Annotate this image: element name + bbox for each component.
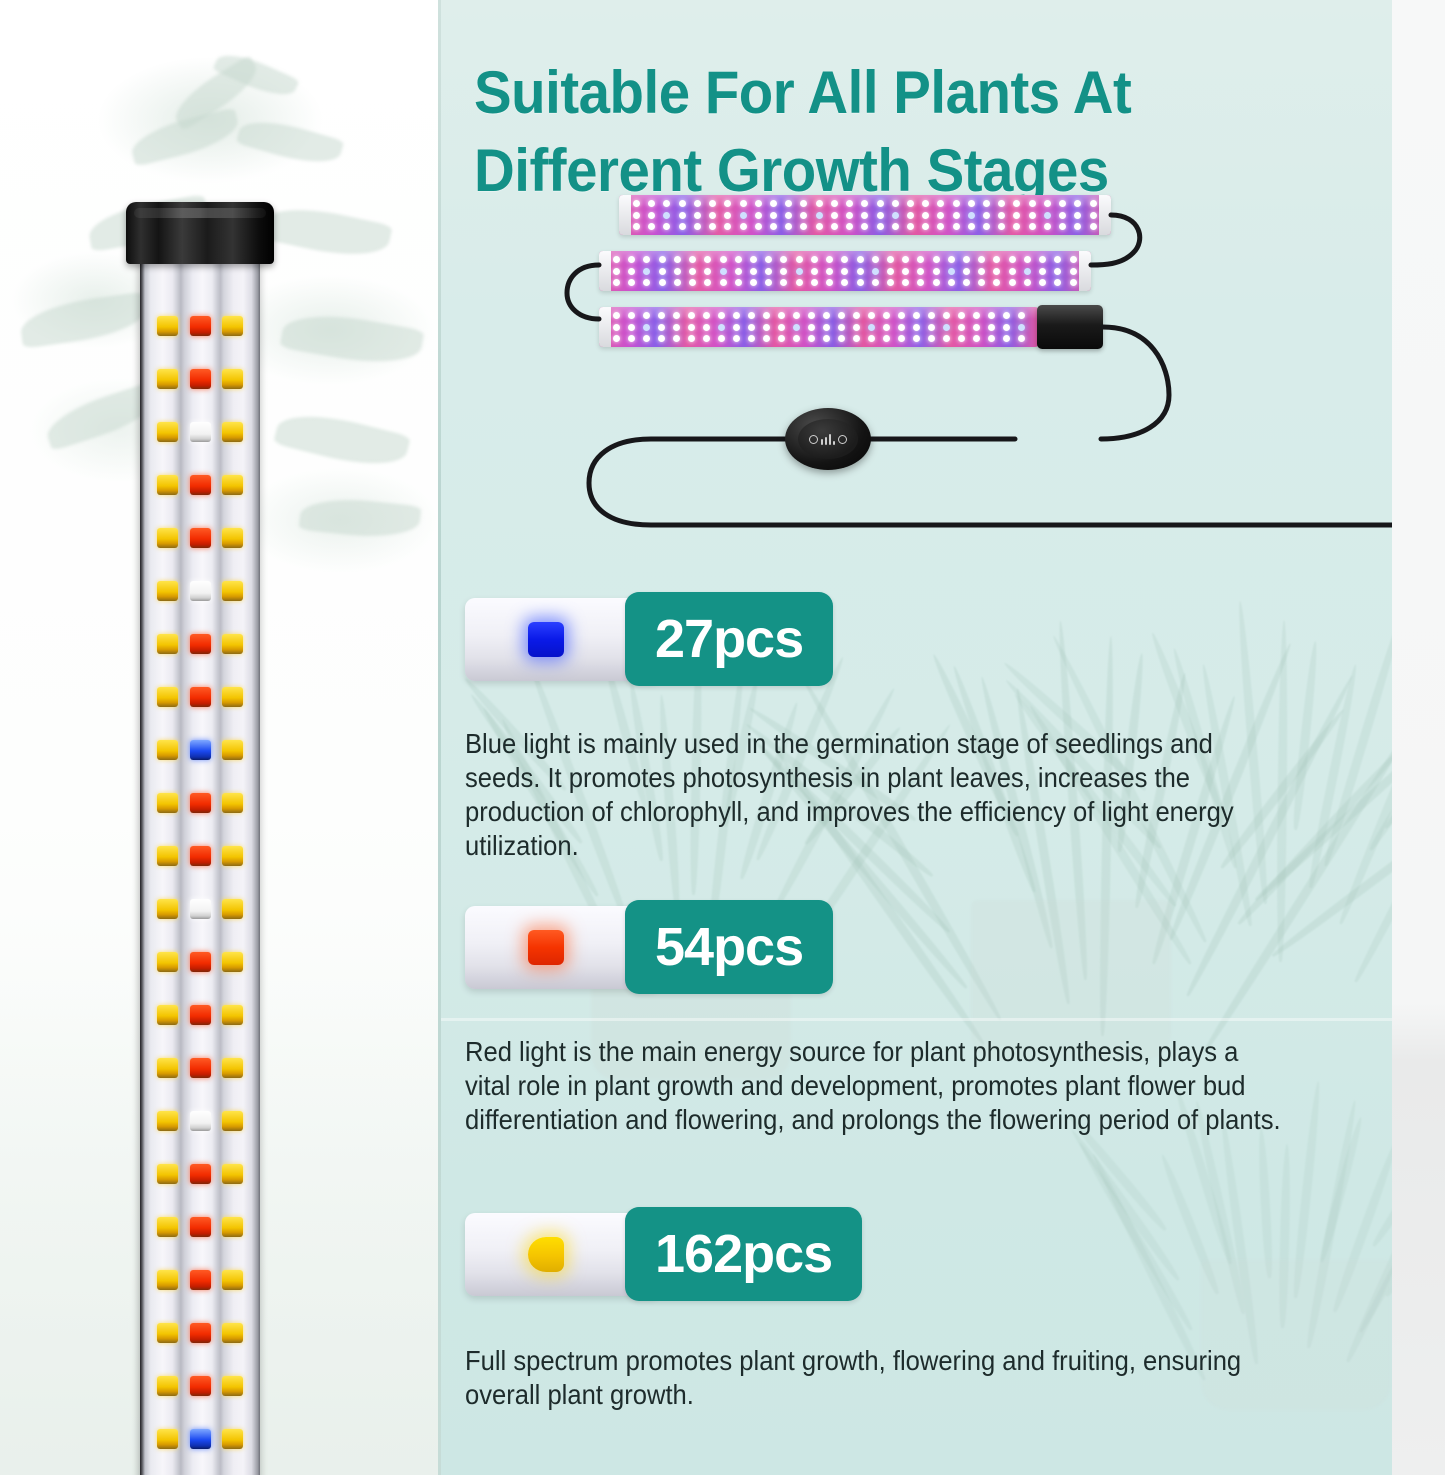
right-content-panel: Suitable For All Plants At Different Gro… xyxy=(441,0,1392,1475)
white-led-chip xyxy=(190,899,211,919)
red-led-chip xyxy=(190,1217,211,1237)
yellow-led-chip xyxy=(222,1164,243,1184)
timer-icon xyxy=(809,435,818,444)
yellow-led-chip xyxy=(222,1111,243,1131)
white-led-chip xyxy=(190,422,211,442)
red-led-chip xyxy=(190,369,211,389)
yellow-led-chip xyxy=(157,1270,178,1290)
led-row xyxy=(140,899,260,921)
title-line-1: Suitable For All Plants At xyxy=(474,54,1301,132)
red-description: Red light is the main energy source for … xyxy=(465,1035,1283,1137)
yellow-led-chip xyxy=(222,422,243,442)
led-row xyxy=(140,1058,260,1080)
yellow-led-chip xyxy=(157,1164,178,1184)
page-title: Suitable For All Plants At Different Gro… xyxy=(474,54,1301,210)
led-row xyxy=(140,740,260,762)
yellow-led-chip xyxy=(222,899,243,919)
yellow-led-chip xyxy=(157,952,178,972)
section-full-spectrum: 162pcs xyxy=(465,1207,1365,1303)
warm-white-led-chip xyxy=(528,1237,564,1272)
red-led-chip xyxy=(190,634,211,654)
yellow-led-chip xyxy=(157,1058,178,1078)
background-leaf xyxy=(298,494,421,542)
section-red: 54pcs xyxy=(465,900,1365,996)
yellow-led-chip xyxy=(157,581,178,601)
blue-count-badge: 27pcs xyxy=(625,592,833,686)
red-led-chip xyxy=(190,1323,211,1343)
bar-housing xyxy=(140,254,260,1475)
led-row xyxy=(140,1323,260,1345)
blue-description: Blue light is mainly used in the germina… xyxy=(465,727,1283,863)
shelf-edge-line xyxy=(441,1018,1392,1021)
yellow-led-chip xyxy=(157,793,178,813)
power-cables xyxy=(541,195,1381,555)
led-row xyxy=(140,422,260,444)
full-spectrum-count-badge: 162pcs xyxy=(625,1207,862,1301)
yellow-led-chip xyxy=(222,634,243,654)
background-leaf xyxy=(279,306,424,372)
led-row xyxy=(140,1376,260,1398)
yellow-led-chip xyxy=(157,846,178,866)
blue-led-chip xyxy=(190,1429,211,1449)
led-row xyxy=(140,634,260,656)
led-row xyxy=(140,793,260,815)
red-led-chip xyxy=(190,1270,211,1290)
led-row xyxy=(140,1005,260,1027)
controller-face xyxy=(798,419,858,459)
yellow-led-chip xyxy=(222,1376,243,1396)
yellow-led-chip xyxy=(157,1429,178,1449)
yellow-led-chip xyxy=(157,1323,178,1343)
yellow-led-chip xyxy=(157,316,178,336)
yellow-led-chip xyxy=(157,1005,178,1025)
yellow-led-chip xyxy=(157,634,178,654)
white-led-chip xyxy=(190,1111,211,1131)
yellow-led-chip xyxy=(222,1429,243,1449)
infographic-page: Suitable For All Plants At Different Gro… xyxy=(0,0,1445,1475)
led-row xyxy=(140,475,260,497)
yellow-led-chip xyxy=(157,1217,178,1237)
yellow-led-chip xyxy=(222,1270,243,1290)
yellow-led-chip xyxy=(157,1111,178,1131)
yellow-led-chip xyxy=(222,793,243,813)
red-led-chip xyxy=(190,1005,211,1025)
led-row xyxy=(140,1164,260,1186)
led-row xyxy=(140,1429,260,1451)
led-row xyxy=(140,687,260,709)
led-row xyxy=(140,528,260,550)
vertical-grow-light-bar xyxy=(120,202,280,1475)
yellow-led-chip xyxy=(157,369,178,389)
inline-timer-controller[interactable] xyxy=(785,408,871,470)
led-row xyxy=(140,1111,260,1133)
yellow-led-chip xyxy=(157,422,178,442)
yellow-led-chip xyxy=(222,1058,243,1078)
yellow-led-chip xyxy=(222,316,243,336)
yellow-led-chip xyxy=(222,1217,243,1237)
badge-row-red: 54pcs xyxy=(465,900,1365,996)
black-end-cap xyxy=(126,202,274,264)
power-icon xyxy=(838,435,847,444)
yellow-led-chip xyxy=(157,899,178,919)
led-row xyxy=(140,316,260,338)
badge-row-full-spectrum: 162pcs xyxy=(465,1207,1365,1303)
red-led-chip xyxy=(190,316,211,336)
yellow-led-chip xyxy=(157,528,178,548)
yellow-led-chip xyxy=(222,475,243,495)
yellow-led-chip xyxy=(222,952,243,972)
red-led-chip xyxy=(190,687,211,707)
white-led-chip xyxy=(190,581,211,601)
red-led-chip xyxy=(190,1376,211,1396)
led-row xyxy=(140,581,260,603)
yellow-led-chip xyxy=(222,581,243,601)
yellow-led-chip xyxy=(222,1005,243,1025)
right-white-margin xyxy=(1392,0,1445,1475)
yellow-led-chip xyxy=(222,528,243,548)
led-row xyxy=(140,1217,260,1239)
red-led-chip xyxy=(190,528,211,548)
yellow-led-chip xyxy=(222,369,243,389)
blue-led-chip xyxy=(190,740,211,760)
led-row xyxy=(140,952,260,974)
red-led-chip xyxy=(528,930,564,965)
yellow-led-chip xyxy=(222,740,243,760)
blue-led-chip xyxy=(528,622,564,657)
red-led-chip xyxy=(190,793,211,813)
brightness-level-icon xyxy=(821,434,835,445)
yellow-led-chip xyxy=(222,1323,243,1343)
red-led-chip xyxy=(190,475,211,495)
led-row xyxy=(140,1270,260,1292)
yellow-led-chip xyxy=(222,687,243,707)
led-row xyxy=(140,846,260,868)
red-led-chip xyxy=(190,1164,211,1184)
red-led-chip xyxy=(190,1058,211,1078)
yellow-led-chip xyxy=(157,687,178,707)
badge-row-blue: 27pcs xyxy=(465,592,1365,688)
red-led-chip xyxy=(190,952,211,972)
yellow-led-chip xyxy=(157,475,178,495)
section-blue: 27pcs xyxy=(465,592,1365,688)
red-led-chip xyxy=(190,846,211,866)
background-leaf xyxy=(236,112,345,171)
yellow-led-chip xyxy=(157,740,178,760)
yellow-led-chip xyxy=(157,1376,178,1396)
yellow-led-chip xyxy=(222,846,243,866)
full-spectrum-description: Full spectrum promotes plant growth, flo… xyxy=(465,1344,1283,1412)
led-row xyxy=(140,369,260,391)
product-photo xyxy=(541,195,1381,555)
red-count-badge: 54pcs xyxy=(625,900,833,994)
background-leaf xyxy=(273,405,411,476)
